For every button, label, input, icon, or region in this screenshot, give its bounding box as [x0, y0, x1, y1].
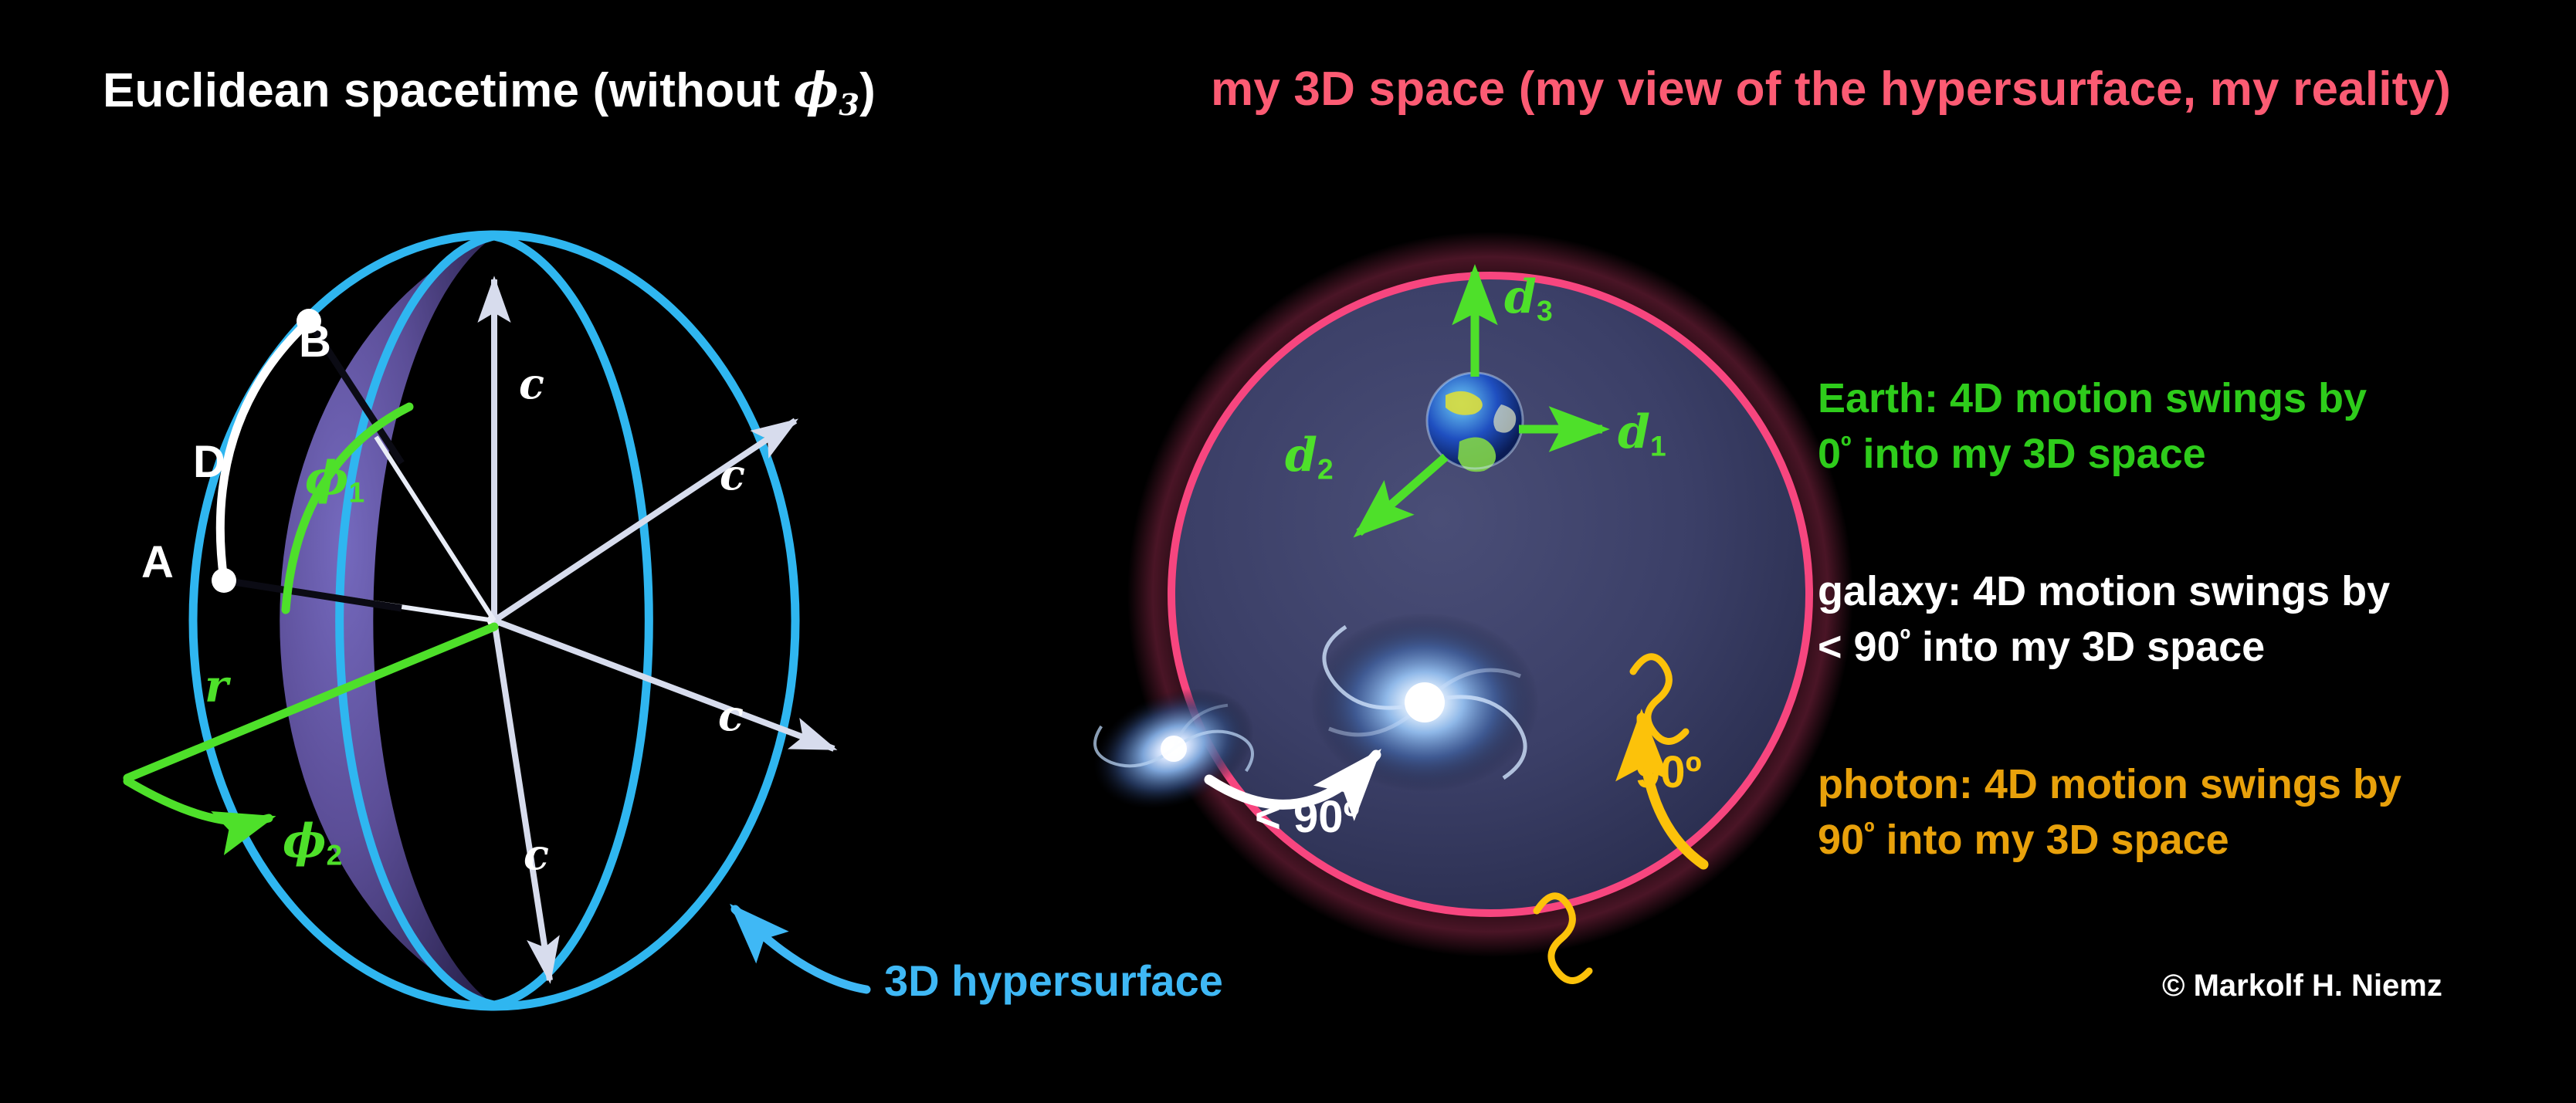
legend-earth-rest: into my 3D space — [1851, 431, 2205, 477]
legend-photon-rest: into my 3D space — [1875, 817, 2229, 863]
title-left-suffix: ) — [859, 64, 876, 117]
label-arc-d: D — [193, 440, 225, 485]
diagram-graphics — [0, 0, 2576, 1103]
label-point-b: B — [299, 320, 331, 364]
copyright-notice: © Markolf H. Niemz — [2162, 970, 2442, 1001]
legend-photon-line2: 90º into my 3D space — [1818, 812, 2401, 868]
d2-subscript: 2 — [1317, 452, 1334, 485]
phi2-angle-arrow — [127, 781, 269, 822]
legend-earth-line2: 0º into my 3D space — [1818, 426, 2367, 482]
label-radius-r: r — [205, 664, 229, 709]
d1-symbol: d — [1618, 405, 1650, 459]
title-left: Euclidean spacetime (without ϕ3) — [103, 62, 876, 118]
legend-galaxy-line1: galaxy: 4D motion swings by — [1818, 563, 2390, 619]
label-d2: d2 — [1285, 432, 1334, 479]
phi1-symbol: ϕ — [305, 452, 348, 506]
legend-galaxy-rest: into my 3D space — [1910, 624, 2265, 670]
phi2-subscript: 2 — [326, 838, 342, 871]
c-arrow-down — [494, 621, 550, 980]
diagram-canvas: Euclidean spacetime (without ϕ3) my 3D s… — [0, 0, 2576, 1103]
legend-earth: Earth: 4D motion swings by 0º into my 3D… — [1818, 370, 2367, 482]
d3-symbol: d — [1504, 270, 1537, 324]
hypersurface-leader-arrow — [735, 909, 866, 990]
phi-subscript-title: 3 — [839, 88, 859, 123]
label-c-down: c — [524, 834, 549, 875]
label-phi1: ϕ1 — [305, 455, 364, 502]
d3-subscript: 3 — [1537, 294, 1553, 327]
label-c-lower-right: c — [718, 695, 744, 736]
d1-subscript: 1 — [1650, 429, 1666, 462]
d2-symbol: d — [1285, 428, 1317, 482]
label-photon-angle: 90º — [1635, 750, 1702, 795]
legend-photon: photon: 4D motion swings by 90º into my … — [1818, 756, 2401, 868]
phi2-symbol: ϕ — [283, 814, 326, 868]
label-3d-hypersurface: 3D hypersurface — [884, 959, 1223, 1003]
phi-symbol-title: ϕ — [794, 62, 839, 118]
label-galaxy-angle: < 90º — [1255, 795, 1360, 840]
legend-photon-degree: º — [1864, 817, 1874, 848]
label-c-upper-right: c — [720, 454, 745, 496]
c-arrow-lower-right — [494, 621, 834, 749]
legend-galaxy-value: < 90 — [1818, 624, 1900, 670]
legend-galaxy: galaxy: 4D motion swings by < 90º into m… — [1818, 563, 2390, 675]
legend-earth-degree: º — [1841, 431, 1851, 462]
label-phi2: ϕ2 — [283, 818, 342, 864]
label-d3: d3 — [1504, 274, 1553, 320]
left-sphere-group — [127, 235, 866, 1007]
galaxy-inside — [1310, 613, 1539, 792]
legend-earth-line1: Earth: 4D motion swings by — [1818, 370, 2367, 426]
radius-to-b-line — [376, 437, 494, 621]
label-c-up: c — [519, 363, 544, 404]
legend-earth-value: 0 — [1818, 431, 1841, 477]
phi1-subscript: 1 — [348, 475, 364, 508]
legend-galaxy-line2: < 90º into my 3D space — [1818, 619, 2390, 675]
legend-photon-value: 90 — [1818, 817, 1864, 863]
right-sphere-group — [1076, 232, 1853, 981]
legend-photon-line1: photon: 4D motion swings by — [1818, 756, 2401, 812]
title-left-prefix: Euclidean spacetime (without — [103, 64, 794, 117]
title-right: my 3D space (my view of the hypersurface… — [1211, 62, 2451, 117]
label-d1: d1 — [1618, 409, 1666, 455]
label-point-a: A — [141, 540, 174, 585]
legend-galaxy-degree: º — [1900, 624, 1910, 655]
point-a-dot — [212, 568, 236, 593]
